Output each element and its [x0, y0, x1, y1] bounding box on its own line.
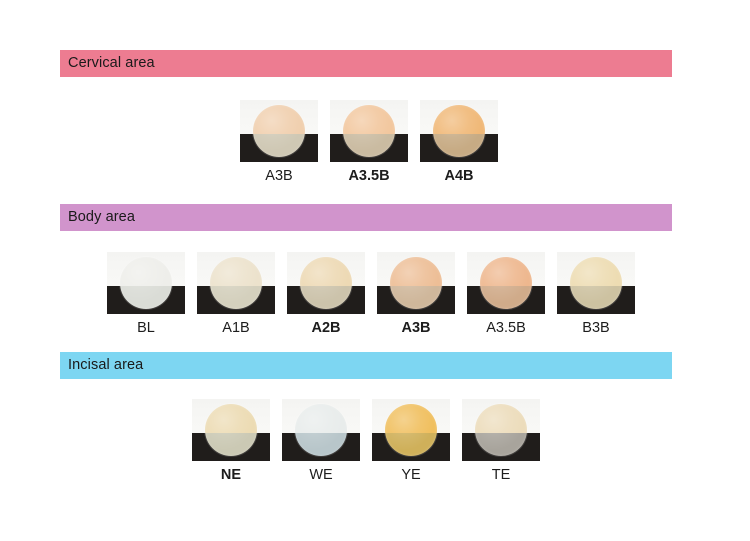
shade-disc [570, 257, 622, 309]
section-title: Incisal area [60, 358, 143, 373]
specimen-tile [287, 252, 365, 314]
shade-disc [253, 105, 305, 157]
shade-label: NE [221, 468, 241, 483]
disc-over-white [385, 404, 437, 433]
specimen-tile [377, 252, 455, 314]
shade-label: A2B [311, 321, 340, 336]
disc-over-white [295, 404, 347, 433]
specimen-tile [372, 399, 450, 461]
shade-disc [300, 257, 352, 309]
shade-label: TE [492, 468, 511, 483]
disc-over-black [253, 134, 305, 157]
specimen-tile [330, 100, 408, 162]
shade-disc [205, 404, 257, 456]
disc-over-black [570, 286, 622, 309]
disc-over-black [205, 433, 257, 456]
shade-label: A3.5B [486, 321, 526, 336]
specimen[interactable]: BL [107, 252, 185, 336]
disc-over-white [300, 257, 352, 286]
specimen-tile [420, 100, 498, 162]
specimen[interactable]: A1B [197, 252, 275, 336]
shade-disc [390, 257, 442, 309]
specimen[interactable]: A3B [240, 100, 318, 184]
specimen-tile [240, 100, 318, 162]
disc-over-white [475, 404, 527, 433]
disc-over-white [253, 105, 305, 134]
specimen-tile [467, 252, 545, 314]
shade-label: A3B [401, 321, 430, 336]
section-header-incisal: Incisal area [60, 352, 672, 379]
shade-label: BL [137, 321, 155, 336]
specimen[interactable]: A4B [420, 100, 498, 184]
disc-over-black [475, 433, 527, 456]
disc-over-black [343, 134, 395, 157]
specimen[interactable]: TE [462, 399, 540, 483]
disc-over-black [120, 286, 172, 309]
specimen-tile [192, 399, 270, 461]
section-header-cervical: Cervical area [60, 50, 672, 77]
disc-over-white [570, 257, 622, 286]
shade-disc [475, 404, 527, 456]
shade-label: A3.5B [348, 169, 389, 184]
disc-over-black [300, 286, 352, 309]
disc-over-white [210, 257, 262, 286]
disc-over-black [210, 286, 262, 309]
specimen[interactable]: YE [372, 399, 450, 483]
shade-guide-sheet: Cervical areaA3BA3.5BA4BBody areaBLA1BA2… [0, 0, 750, 541]
shade-disc [433, 105, 485, 157]
shade-disc [343, 105, 395, 157]
disc-over-white [205, 404, 257, 433]
specimen[interactable]: B3B [557, 252, 635, 336]
disc-over-white [120, 257, 172, 286]
shade-disc [210, 257, 262, 309]
specimen-row-cervical: A3BA3.5BA4B [240, 100, 498, 184]
specimen-row-body: BLA1BA2BA3BA3.5BB3B [107, 252, 635, 336]
shade-disc [385, 404, 437, 456]
specimen[interactable]: A3B [377, 252, 455, 336]
section-title: Body area [60, 210, 135, 225]
disc-over-black [385, 433, 437, 456]
shade-label: A1B [222, 321, 249, 336]
specimen-tile [282, 399, 360, 461]
specimen-tile [107, 252, 185, 314]
disc-over-white [433, 105, 485, 134]
shade-disc [295, 404, 347, 456]
section-header-body: Body area [60, 204, 672, 231]
shade-disc [480, 257, 532, 309]
specimen-row-incisal: NEWEYETE [192, 399, 540, 483]
disc-over-black [390, 286, 442, 309]
shade-label: A3B [265, 169, 292, 184]
disc-over-black [480, 286, 532, 309]
shade-label: WE [309, 468, 332, 483]
shade-label: YE [401, 468, 420, 483]
disc-over-black [433, 134, 485, 157]
disc-over-black [295, 433, 347, 456]
specimen[interactable]: A2B [287, 252, 365, 336]
shade-disc [120, 257, 172, 309]
disc-over-white [390, 257, 442, 286]
specimen[interactable]: NE [192, 399, 270, 483]
specimen-tile [462, 399, 540, 461]
specimen[interactable]: A3.5B [330, 100, 408, 184]
specimen[interactable]: A3.5B [467, 252, 545, 336]
disc-over-white [480, 257, 532, 286]
specimen-tile [197, 252, 275, 314]
section-title: Cervical area [60, 56, 155, 71]
disc-over-white [343, 105, 395, 134]
specimen-tile [557, 252, 635, 314]
shade-label: A4B [444, 169, 473, 184]
specimen[interactable]: WE [282, 399, 360, 483]
shade-label: B3B [582, 321, 609, 336]
